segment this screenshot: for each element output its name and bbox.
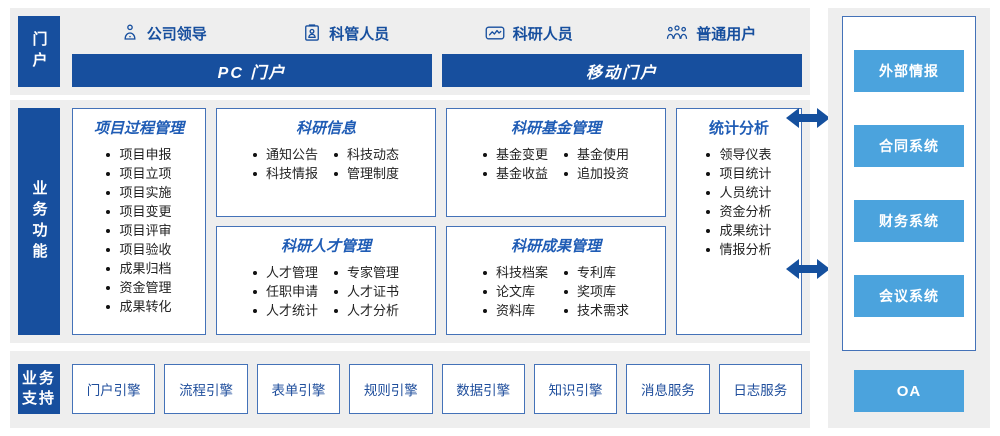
list-item[interactable]: 专家管理 bbox=[334, 263, 399, 282]
card-item-list-right: 专家管理 人才证书 人才分析 bbox=[334, 263, 399, 320]
engine-knowledge[interactable]: 知识引擎 bbox=[534, 364, 617, 414]
list-item[interactable]: 追加投资 bbox=[564, 164, 629, 183]
researcher-icon bbox=[484, 23, 506, 43]
card-item-columns: 科技档案 论文库 资料库 专利库 奖项库 技术需求 bbox=[483, 263, 629, 320]
role-label: 科研人员 bbox=[513, 23, 573, 44]
engine-portal[interactable]: 门户引擎 bbox=[72, 364, 155, 414]
engine-form[interactable]: 表单引擎 bbox=[257, 364, 340, 414]
list-item[interactable]: 科技档案 bbox=[483, 263, 548, 282]
card-title: 科研成果管理 bbox=[511, 235, 601, 256]
list-item[interactable]: 人才证书 bbox=[334, 282, 399, 301]
column-statistics: 统计分析 领导仪表 项目统计 人员统计 资金分析 成果统计 情报分析 bbox=[676, 108, 802, 335]
card-item-columns: 基金变更 基金收益 基金使用 追加投资 bbox=[483, 145, 629, 183]
list-item[interactable]: 论文库 bbox=[483, 282, 548, 301]
list-item[interactable]: 领导仪表 bbox=[706, 145, 771, 164]
card-item-columns: 通知公告 科技情报 科技动态 管理制度 bbox=[253, 145, 399, 183]
card-research-info[interactable]: 科研信息 通知公告 科技情报 科技动态 管理制度 bbox=[216, 108, 436, 217]
card-title: 科研基金管理 bbox=[511, 117, 601, 138]
research-admin-icon bbox=[302, 23, 322, 43]
external-systems-box: 外部情报 合同系统 财务系统 会议系统 bbox=[842, 16, 976, 351]
external-systems-section: 外部情报 合同系统 财务系统 会议系统 OA bbox=[828, 8, 990, 428]
role-label: 科管人员 bbox=[329, 23, 389, 44]
role-company-leader[interactable]: 公司领导 bbox=[72, 16, 255, 50]
list-item[interactable]: 人员统计 bbox=[706, 183, 771, 202]
portal-section-tab: 门户 bbox=[18, 16, 60, 87]
engine-data[interactable]: 数据引擎 bbox=[442, 364, 525, 414]
card-research-talent[interactable]: 科研人才管理 人才管理 任职申请 人才统计 专家管理 人才证书 人才分析 bbox=[216, 226, 436, 335]
card-project-process[interactable]: 项目过程管理 项目申报 项目立项 项目实施 项目变更 项目评审 项目验收 成果归… bbox=[72, 108, 206, 335]
card-item-list-right: 科技动态 管理制度 bbox=[334, 145, 399, 183]
list-item[interactable]: 成果转化 bbox=[106, 297, 171, 316]
list-item[interactable]: 情报分析 bbox=[706, 240, 771, 259]
card-statistics[interactable]: 统计分析 领导仪表 项目统计 人员统计 资金分析 成果统计 情报分析 bbox=[676, 108, 802, 335]
engine-row: 门户引擎 流程引擎 表单引擎 规则引擎 数据引擎 知识引擎 消息服务 日志服务 bbox=[72, 364, 802, 414]
engine-log-service[interactable]: 日志服务 bbox=[719, 364, 802, 414]
double-arrow-icon bbox=[786, 256, 830, 282]
external-system-finance[interactable]: 财务系统 bbox=[854, 200, 964, 242]
portal-bar-pc[interactable]: PC 门户 bbox=[72, 54, 432, 87]
list-item[interactable]: 人才管理 bbox=[253, 263, 318, 282]
list-item[interactable]: 项目申报 bbox=[106, 145, 171, 164]
list-item[interactable]: 资金分析 bbox=[706, 202, 771, 221]
list-item[interactable]: 资料库 bbox=[483, 301, 548, 320]
list-item[interactable]: 项目评审 bbox=[106, 221, 171, 240]
card-item-list: 项目申报 项目立项 项目实施 项目变更 项目评审 项目验收 成果归档 资金管理 … bbox=[106, 145, 171, 316]
list-item[interactable]: 人才分析 bbox=[334, 301, 399, 320]
column-project-process: 项目过程管理 项目申报 项目立项 项目实施 项目变更 项目评审 项目验收 成果归… bbox=[72, 108, 206, 335]
card-title: 科研人才管理 bbox=[281, 235, 371, 256]
engine-message-service[interactable]: 消息服务 bbox=[626, 364, 709, 414]
card-item-list-left: 科技档案 论文库 资料库 bbox=[483, 263, 548, 320]
role-label: 公司领导 bbox=[147, 23, 207, 44]
business-function-section-tab: 业务功能 bbox=[18, 108, 60, 335]
list-item[interactable]: 项目验收 bbox=[106, 240, 171, 259]
column-research-fund: 科研基金管理 基金变更 基金收益 基金使用 追加投资 科研成果管理 bbox=[446, 108, 666, 335]
list-item[interactable]: 项目立项 bbox=[106, 164, 171, 183]
business-support-section: 业务支持 门户引擎 流程引擎 表单引擎 规则引擎 数据引擎 知识引擎 消息服务 … bbox=[10, 351, 810, 428]
role-label: 普通用户 bbox=[696, 23, 756, 44]
role-researcher[interactable]: 科研人员 bbox=[437, 16, 620, 50]
list-item[interactable]: 奖项库 bbox=[564, 282, 629, 301]
business-function-section: 业务功能 项目过程管理 项目申报 项目立项 项目实施 项目变更 项目评审 项目验… bbox=[10, 100, 810, 343]
bottom-double-arrow bbox=[786, 256, 830, 282]
card-research-fund[interactable]: 科研基金管理 基金变更 基金收益 基金使用 追加投资 bbox=[446, 108, 666, 217]
portal-role-row: 公司领导 科管人员 bbox=[72, 16, 802, 50]
role-general-user[interactable]: 普通用户 bbox=[620, 16, 803, 50]
engine-workflow[interactable]: 流程引擎 bbox=[164, 364, 247, 414]
card-item-list-left: 基金变更 基金收益 bbox=[483, 145, 548, 183]
list-item[interactable]: 科技动态 bbox=[334, 145, 399, 164]
card-item-list-right: 专利库 奖项库 技术需求 bbox=[564, 263, 629, 320]
list-item[interactable]: 基金变更 bbox=[483, 145, 548, 164]
card-title: 科研信息 bbox=[296, 117, 356, 138]
list-item[interactable]: 基金使用 bbox=[564, 145, 629, 164]
portal-bars: PC 门户 移动门户 bbox=[72, 54, 802, 87]
external-system-intel[interactable]: 外部情报 bbox=[854, 50, 964, 92]
card-item-list: 领导仪表 项目统计 人员统计 资金分析 成果统计 情报分析 bbox=[706, 145, 771, 259]
external-system-oa[interactable]: OA bbox=[854, 370, 964, 412]
business-function-grid: 项目过程管理 项目申报 项目立项 项目实施 项目变更 项目评审 项目验收 成果归… bbox=[72, 108, 802, 335]
list-item[interactable]: 成果统计 bbox=[706, 221, 771, 240]
list-item[interactable]: 项目实施 bbox=[106, 183, 171, 202]
card-item-list-right: 基金使用 追加投资 bbox=[564, 145, 629, 183]
list-item[interactable]: 项目变更 bbox=[106, 202, 171, 221]
card-item-list-left: 人才管理 任职申请 人才统计 bbox=[253, 263, 318, 320]
list-item[interactable]: 技术需求 bbox=[564, 301, 629, 320]
list-item[interactable]: 通知公告 bbox=[253, 145, 318, 164]
portal-section: 门户 公司领导 bbox=[10, 8, 810, 95]
list-item[interactable]: 科技情报 bbox=[253, 164, 318, 183]
external-system-meeting[interactable]: 会议系统 bbox=[854, 275, 964, 317]
list-item[interactable]: 基金收益 bbox=[483, 164, 548, 183]
list-item[interactable]: 管理制度 bbox=[334, 164, 399, 183]
company-leader-icon bbox=[120, 23, 140, 43]
list-item[interactable]: 项目统计 bbox=[706, 164, 771, 183]
card-title: 项目过程管理 bbox=[94, 117, 184, 138]
card-research-achievement[interactable]: 科研成果管理 科技档案 论文库 资料库 专利库 奖项库 技术需求 bbox=[446, 226, 666, 335]
list-item[interactable]: 任职申请 bbox=[253, 282, 318, 301]
card-title: 统计分析 bbox=[709, 117, 769, 138]
list-item[interactable]: 成果归档 bbox=[106, 259, 171, 278]
role-research-admin[interactable]: 科管人员 bbox=[255, 16, 438, 50]
portal-bar-mobile[interactable]: 移动门户 bbox=[442, 54, 802, 87]
engine-rule[interactable]: 规则引擎 bbox=[349, 364, 432, 414]
architecture-diagram: 门户 公司领导 bbox=[0, 0, 1000, 436]
top-double-arrow bbox=[786, 105, 830, 131]
double-arrow-icon bbox=[786, 105, 830, 131]
list-item[interactable]: 资金管理 bbox=[106, 278, 171, 297]
column-research-info: 科研信息 通知公告 科技情报 科技动态 管理制度 科研人才管理 bbox=[216, 108, 436, 335]
list-item[interactable]: 专利库 bbox=[564, 263, 629, 282]
business-support-section-tab: 业务支持 bbox=[18, 364, 60, 414]
external-system-contract[interactable]: 合同系统 bbox=[854, 125, 964, 167]
general-user-icon bbox=[665, 23, 689, 43]
list-item[interactable]: 人才统计 bbox=[253, 301, 318, 320]
card-item-list-left: 通知公告 科技情报 bbox=[253, 145, 318, 183]
card-item-columns: 人才管理 任职申请 人才统计 专家管理 人才证书 人才分析 bbox=[253, 263, 399, 320]
